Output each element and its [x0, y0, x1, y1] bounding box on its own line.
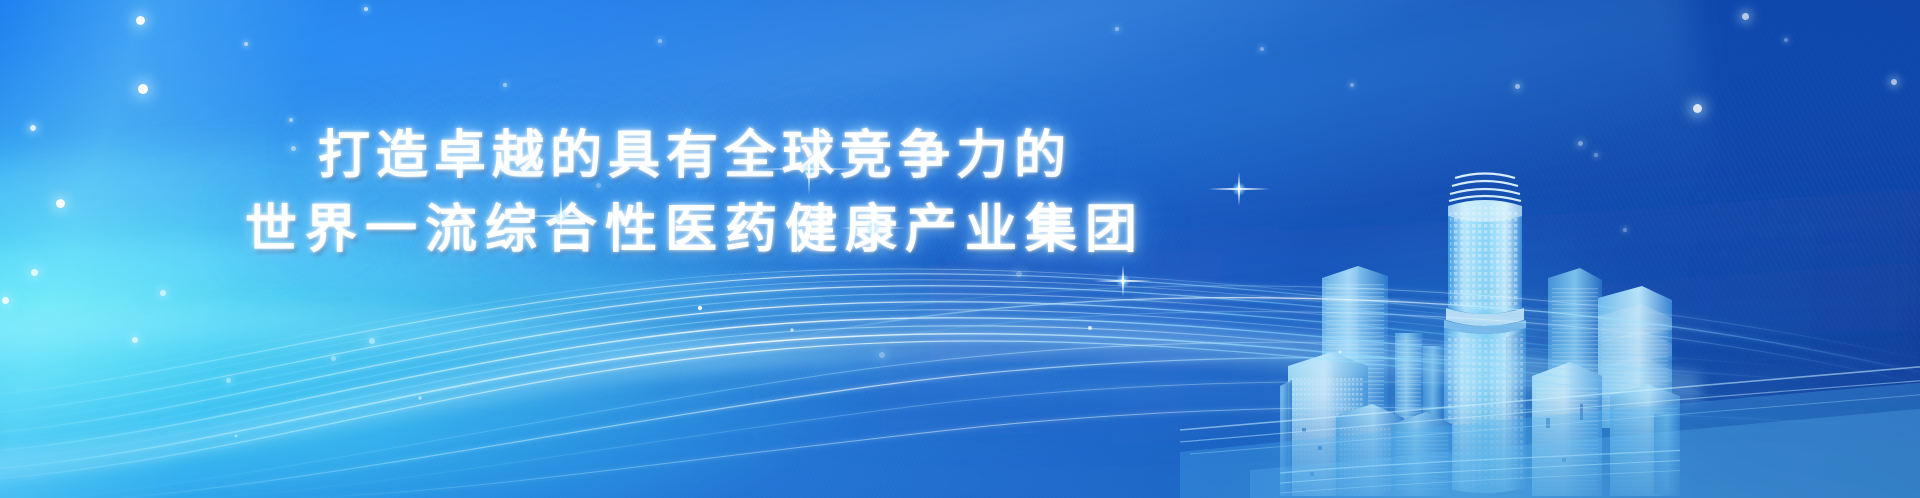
ground-sweep-lines: [0, 0, 1920, 498]
hero-banner: 打造卓越的具有全球竞争力的 世界一流综合性医药健康产业集团: [0, 0, 1920, 498]
